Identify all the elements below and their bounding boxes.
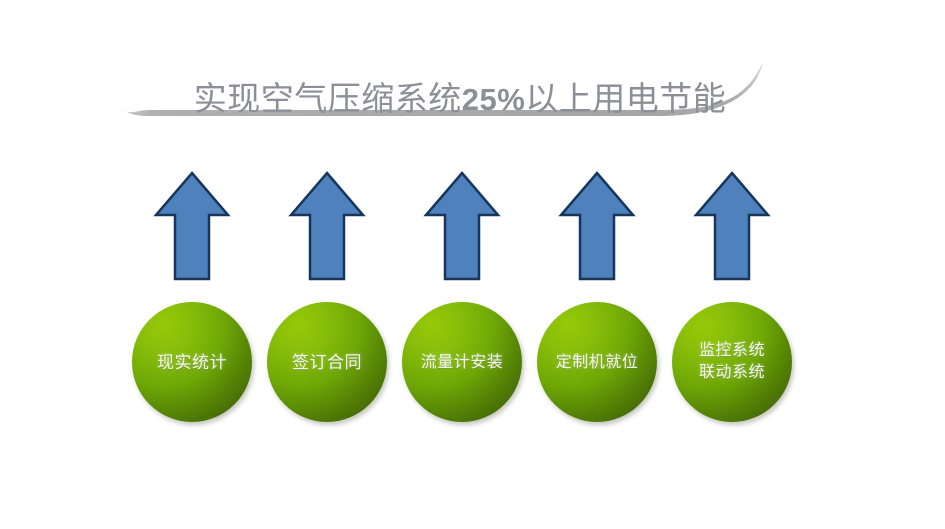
process-node-5[interactable]: 监控系统 联动系统 bbox=[672, 302, 792, 422]
process-node-5-label: 监控系统 联动系统 bbox=[695, 340, 769, 384]
page-title-highlight: 25% bbox=[462, 82, 526, 117]
page-title-prefix: 实现空气压缩系统 bbox=[194, 82, 462, 118]
slide-canvas: 实现空气压缩系统25%以上用电节能 现实统计 签订合同 流量计安装 定制机就位 … bbox=[0, 0, 945, 529]
up-arrow-2 bbox=[288, 170, 366, 282]
process-node-2[interactable]: 签订合同 bbox=[267, 302, 387, 422]
process-node-1-label: 现实统计 bbox=[153, 351, 231, 374]
up-arrow-3 bbox=[423, 170, 501, 282]
process-node-3-label: 流量计安装 bbox=[417, 351, 508, 374]
process-node-3[interactable]: 流量计安装 bbox=[402, 302, 522, 422]
title-banner: 实现空气压缩系统25%以上用电节能 bbox=[0, 30, 945, 145]
process-node-1[interactable]: 现实统计 bbox=[132, 302, 252, 422]
process-node-4-label: 定制机就位 bbox=[552, 351, 643, 374]
up-arrow-4 bbox=[558, 170, 636, 282]
up-arrow-1 bbox=[153, 170, 231, 282]
process-node-2-label: 签订合同 bbox=[288, 351, 366, 374]
process-node-4[interactable]: 定制机就位 bbox=[537, 302, 657, 422]
page-title-suffix: 以上用电节能 bbox=[525, 82, 726, 118]
page-title: 实现空气压缩系统25%以上用电节能 bbox=[140, 72, 780, 128]
up-arrow-5 bbox=[693, 170, 771, 282]
